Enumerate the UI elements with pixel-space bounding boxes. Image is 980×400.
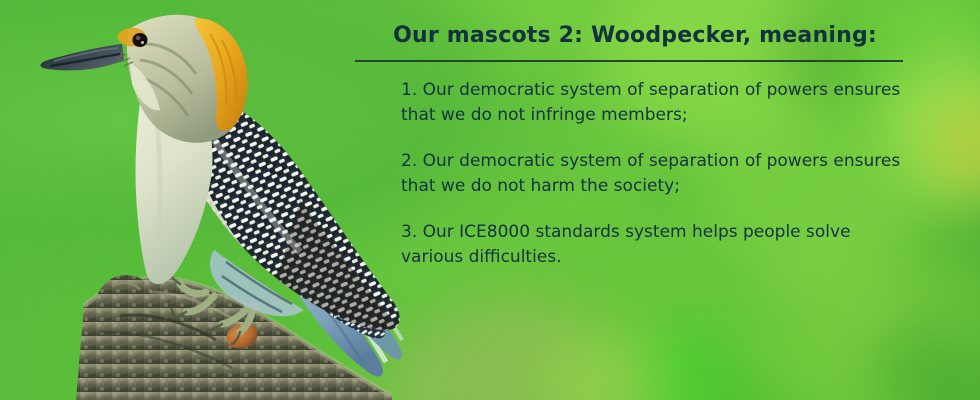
list-item: 2. Our democratic system of separation o… [401, 149, 911, 199]
list-item: 1. Our democratic system of separation o… [401, 78, 911, 128]
title-divider [355, 60, 903, 62]
meaning-list: 1. Our democratic system of separation o… [355, 78, 915, 270]
text-panel: Our mascots 2: Woodpecker, meaning: 1. O… [355, 24, 915, 270]
eye [133, 33, 148, 47]
page-title: Our mascots 2: Woodpecker, meaning: [355, 24, 915, 48]
list-item: 3. Our ICE8000 standards system helps pe… [401, 220, 911, 270]
mascot-banner: Our mascots 2: Woodpecker, meaning: 1. O… [0, 0, 980, 400]
